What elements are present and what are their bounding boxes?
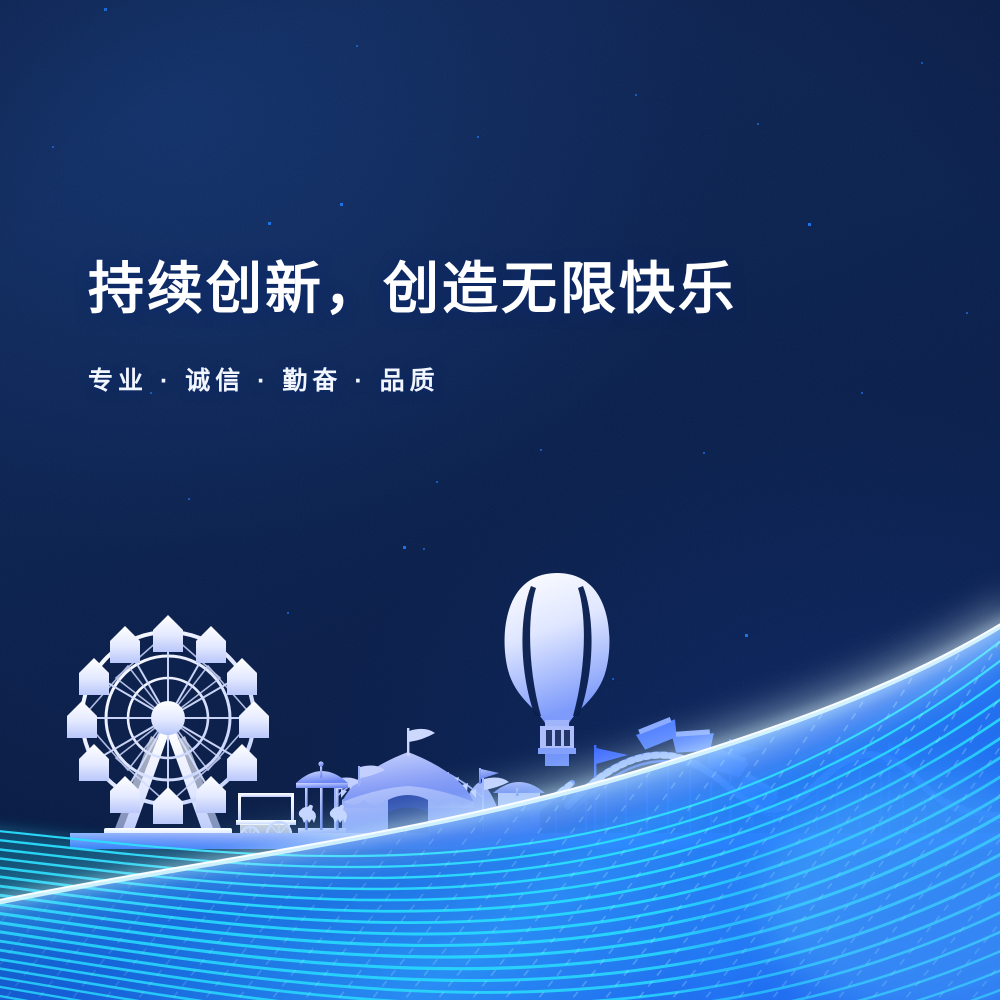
page-subtitle: 专业 · 诚信 · 勤奋 · 品质 (88, 321, 928, 397)
glowing-wave-mesh (0, 0, 1000, 1000)
banner-canvas: 持续创新，创造无限快乐 专业 · 诚信 · 勤奋 · 品质 (0, 0, 1000, 1000)
page-title: 持续创新，创造无限快乐 (88, 258, 928, 321)
hero-copy: 持续创新，创造无限快乐 专业 · 诚信 · 勤奋 · 品质 (88, 258, 928, 397)
